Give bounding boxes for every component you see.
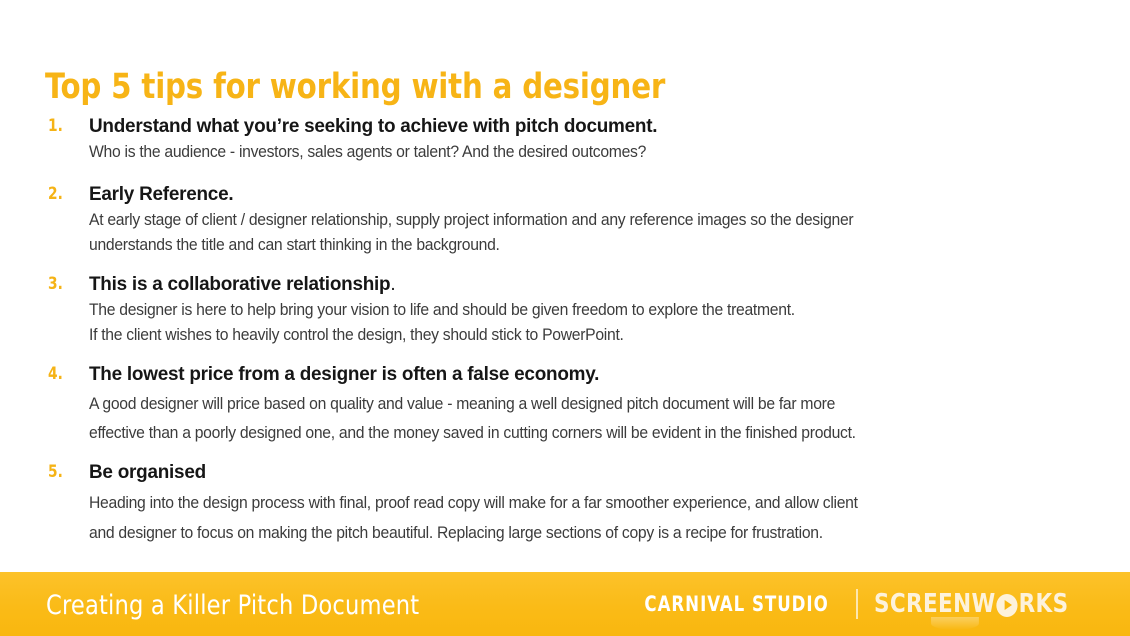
- list-item-body-line: effective than a poorly designed one, an…: [89, 421, 1094, 445]
- tips-list: 1. Understand what you’re seeking to ach…: [0, 113, 1130, 545]
- list-item-number: 3.: [48, 271, 75, 297]
- list-item-number: 2.: [48, 181, 75, 207]
- list-item-body-line: Heading into the design process with fin…: [89, 491, 1094, 515]
- list-item-body-line: Who is the audience - investors, sales a…: [89, 140, 1094, 164]
- brand-carnival-studio: CARNIVAL STUDIO: [644, 592, 841, 616]
- brand-divider: [856, 589, 858, 619]
- brand-screenworks: SCREENW RKS: [874, 590, 1068, 618]
- list-item-heading-text: Understand what you’re seeking to achiev…: [89, 115, 657, 137]
- list-item: 1. Understand what you’re seeking to ach…: [0, 113, 1130, 164]
- list-item: 5. Be organised Heading into the design …: [0, 459, 1130, 545]
- list-item-heading-text: This is a collaborative relationship: [89, 273, 390, 295]
- play-circle-icon: [996, 594, 1017, 617]
- footer-bar: Creating a Killer Pitch Document CARNIVA…: [0, 572, 1130, 636]
- list-item-body-line: At early stage of client / designer rela…: [89, 208, 1094, 232]
- list-item-heading: Understand what you’re seeking to achiev…: [89, 113, 1099, 139]
- list-item: 2. Early Reference. At early stage of cl…: [0, 181, 1130, 257]
- list-item-heading-text: The lowest price from a designer is ofte…: [89, 363, 599, 385]
- footer-deck-title: Creating a Killer Pitch Document: [46, 590, 419, 622]
- list-item-heading: Early Reference.: [89, 181, 1099, 207]
- list-item-heading: The lowest price from a designer is ofte…: [89, 361, 1099, 387]
- list-item-heading-tail: .: [390, 273, 395, 295]
- list-item-number: 1.: [48, 113, 75, 139]
- list-item-number: 4.: [48, 361, 75, 387]
- list-item-heading-text: Early Reference.: [89, 183, 233, 205]
- list-item-heading: This is a collaborative relationship.: [89, 271, 1099, 297]
- list-item-body-line: If the client wishes to heavily control …: [89, 323, 1094, 347]
- list-item-number: 5.: [48, 459, 75, 485]
- list-item-heading-text: Be organised: [89, 461, 206, 483]
- list-item-heading: Be organised: [89, 459, 1099, 485]
- list-item-body-line: understands the title and can start thin…: [89, 233, 1094, 257]
- list-item-body-line: A good designer will price based on qual…: [89, 392, 1094, 416]
- list-item: 4. The lowest price from a designer is o…: [0, 361, 1130, 445]
- list-item-body-line: The designer is here to help bring your …: [89, 298, 1094, 322]
- list-item-body-line: and designer to focus on making the pitc…: [89, 521, 1094, 545]
- page-title: Top 5 tips for working with a designer: [45, 66, 665, 108]
- footer-brand-group: CARNIVAL STUDIO SCREENW RKS: [631, 572, 1085, 636]
- brand-screenworks-prefix: SCREENW: [874, 590, 996, 618]
- slide: Top 5 tips for working with a designer 1…: [0, 0, 1130, 636]
- brand-screenworks-suffix: RKS: [1018, 590, 1068, 618]
- list-item: 3. This is a collaborative relationship.…: [0, 271, 1130, 347]
